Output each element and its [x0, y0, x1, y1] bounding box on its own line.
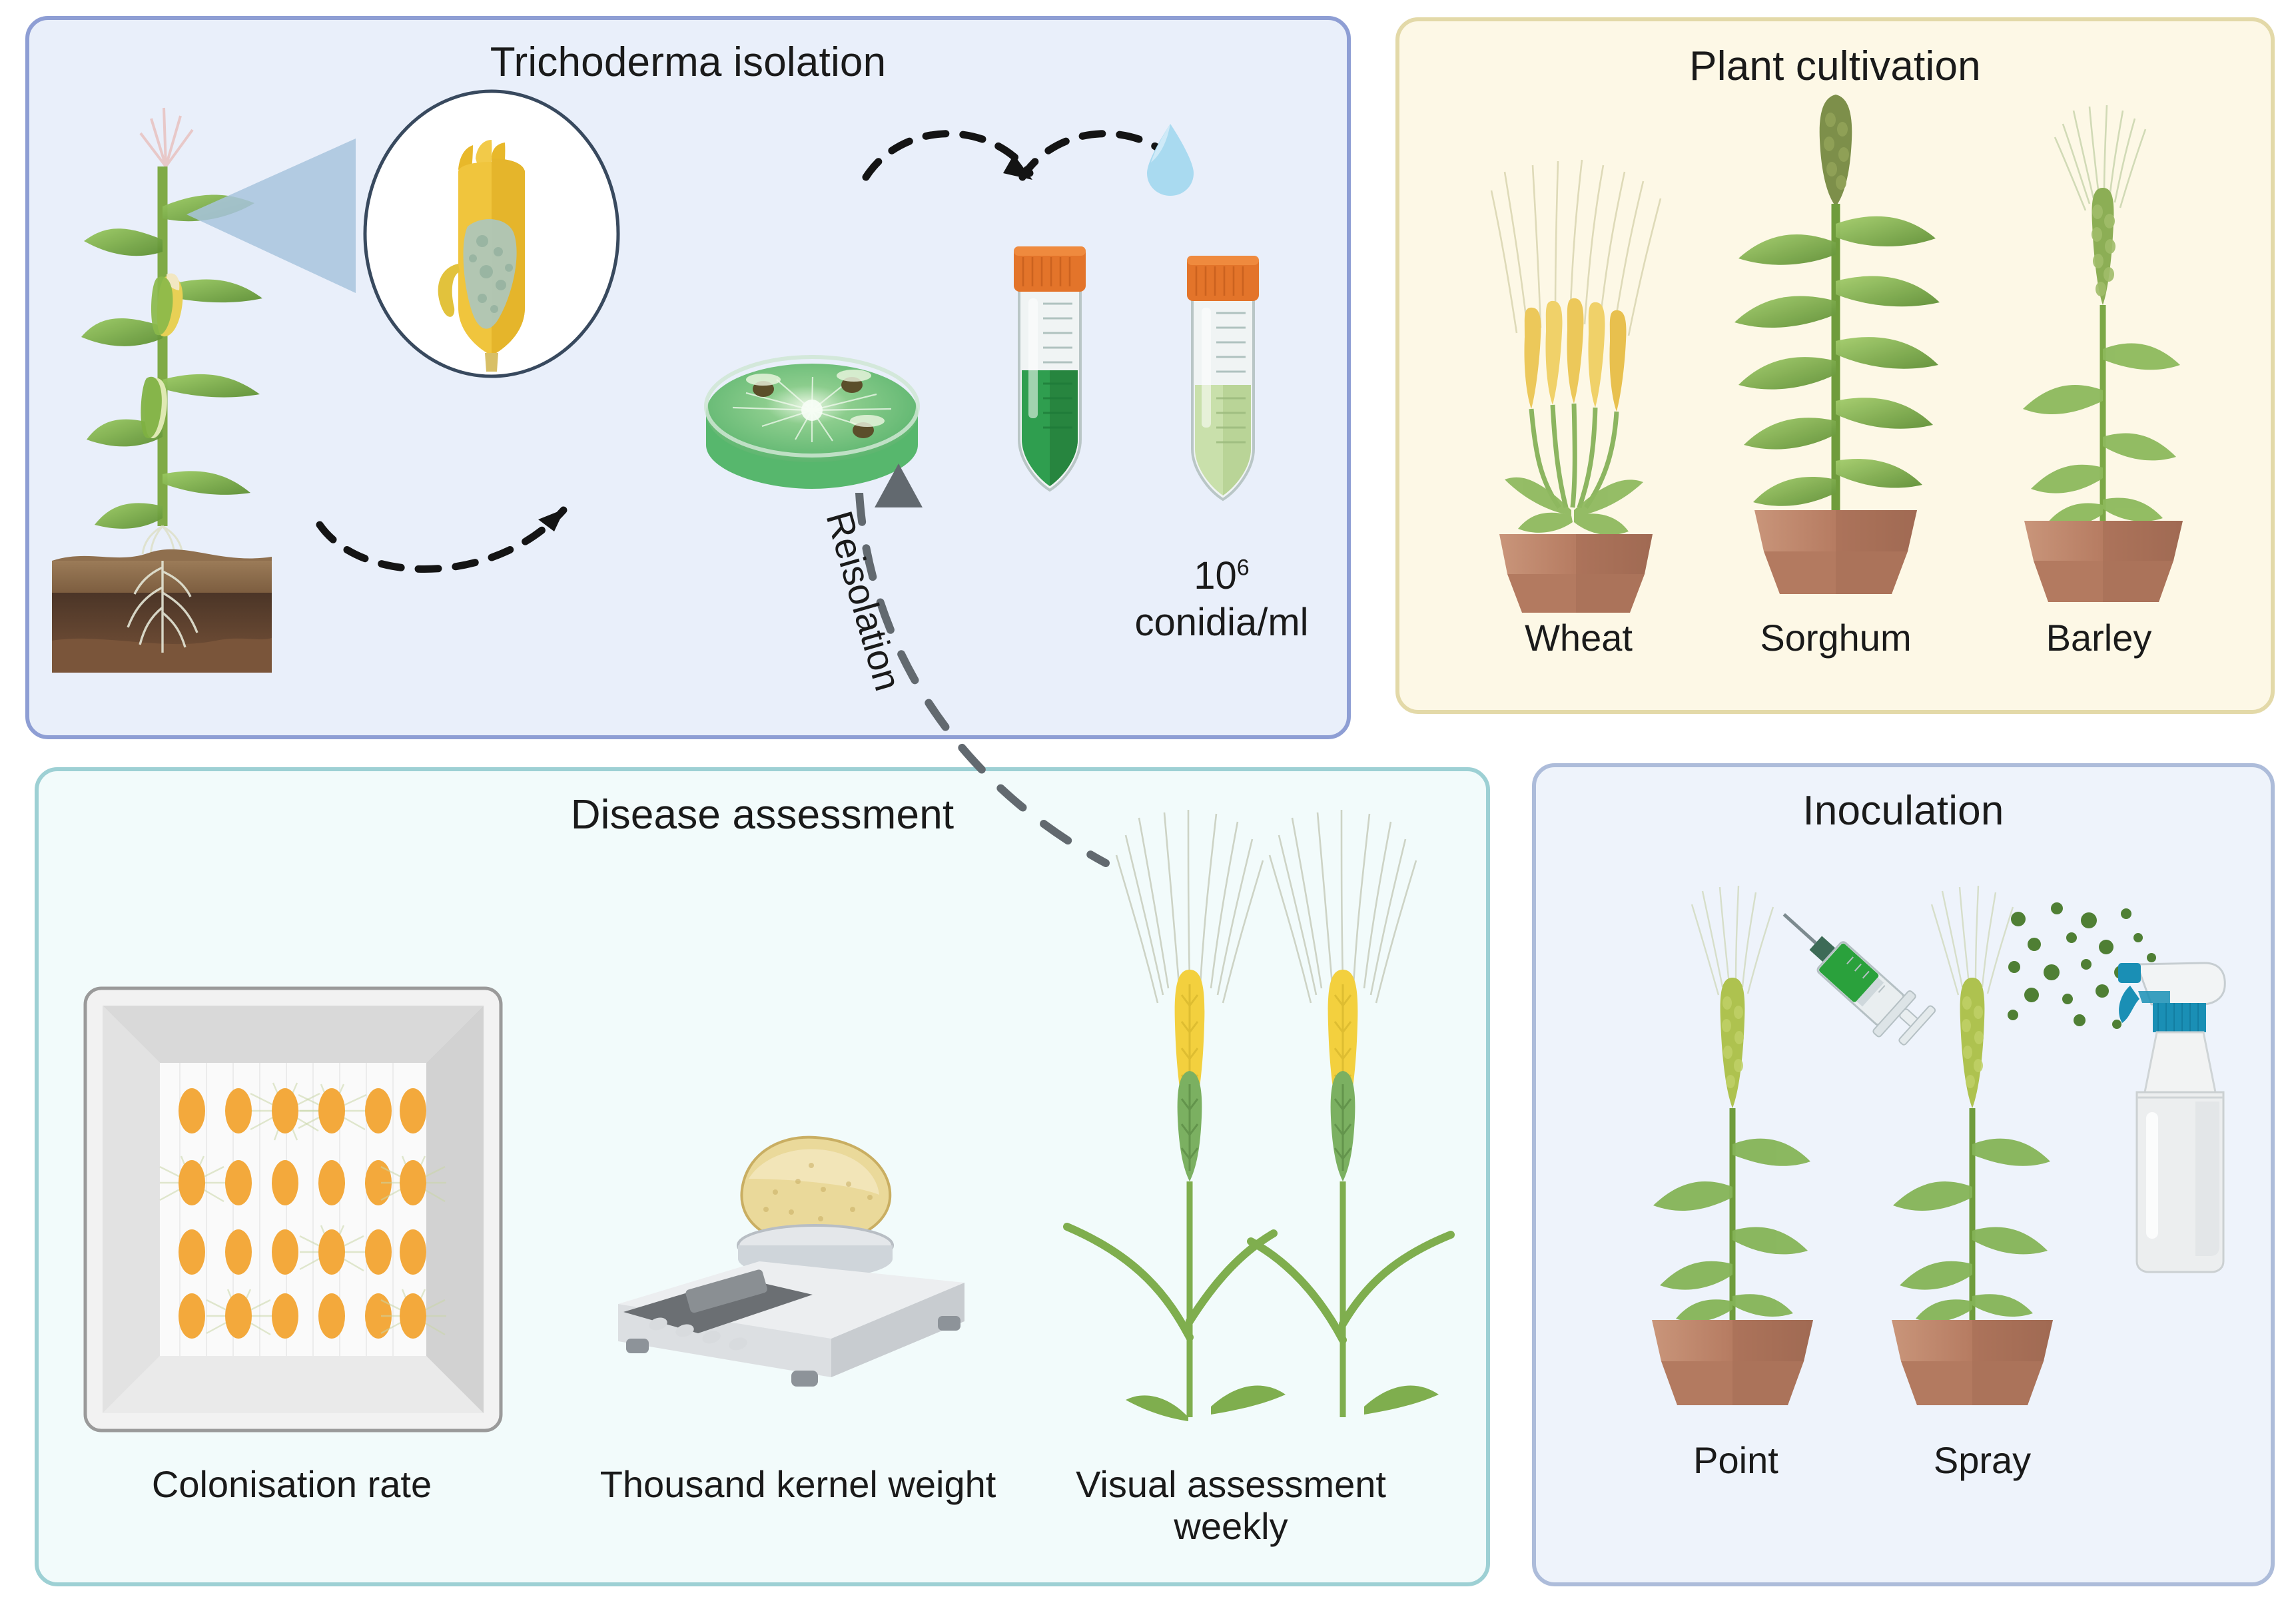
magnifier-cone-icon [184, 127, 384, 326]
concentration-exponent: 6 [1237, 555, 1250, 581]
plant-label-barley: Barley [1992, 617, 2205, 659]
seed-tray-icon [80, 983, 506, 1436]
panel-inoculation: Inoculation [1532, 763, 2275, 1586]
panel-disease-assessment: Disease assessment [35, 767, 1490, 1586]
sorghum-plant-icon [1716, 71, 1956, 617]
pot-icon [1499, 534, 1653, 613]
concentration-base: 10 [1194, 554, 1237, 597]
plant-label-sorghum: Sorghum [1713, 617, 1959, 659]
pot-icon [1892, 1320, 2053, 1405]
method-label-colonisation: Colonisation rate [59, 1464, 525, 1506]
magnifier-circle-icon [358, 84, 625, 384]
falcon-tube-light-icon [1176, 249, 1270, 515]
wheat-plant-icon [1466, 108, 1686, 614]
figure-root: Trichoderma isolation [0, 0, 2296, 1601]
barley-plant-icon [1992, 91, 2205, 617]
inoculation-label-spray: Spray [1862, 1440, 2102, 1482]
panel-title-inoculation: Inoculation [1536, 787, 2271, 834]
water-droplet-icon [1140, 120, 1200, 200]
pot-icon [1652, 1320, 1813, 1405]
dashed-arrow-icon [1012, 107, 1238, 240]
inoculation-label-point: Point [1616, 1440, 1856, 1482]
visual-assessment-line2: weekly [1174, 1505, 1288, 1547]
pot-icon [1754, 510, 1917, 594]
dashed-arrow-icon [309, 446, 722, 593]
method-label-visual-assessment: Visual assessment weekly [984, 1464, 1477, 1547]
balance-scale-icon [591, 1104, 1004, 1411]
plant-label-wheat: Wheat [1469, 617, 1689, 659]
falcon-tube-dark-icon [1003, 240, 1096, 506]
pot-icon [2024, 521, 2183, 602]
panel-plant-cultivation: Plant cultivation [1395, 17, 2275, 714]
visual-assessment-line1: Visual assessment [1076, 1463, 1386, 1505]
method-label-kernel-weight: Thousand kernel weight [545, 1464, 1051, 1506]
spray-bottle-icon [2096, 934, 2249, 1280]
